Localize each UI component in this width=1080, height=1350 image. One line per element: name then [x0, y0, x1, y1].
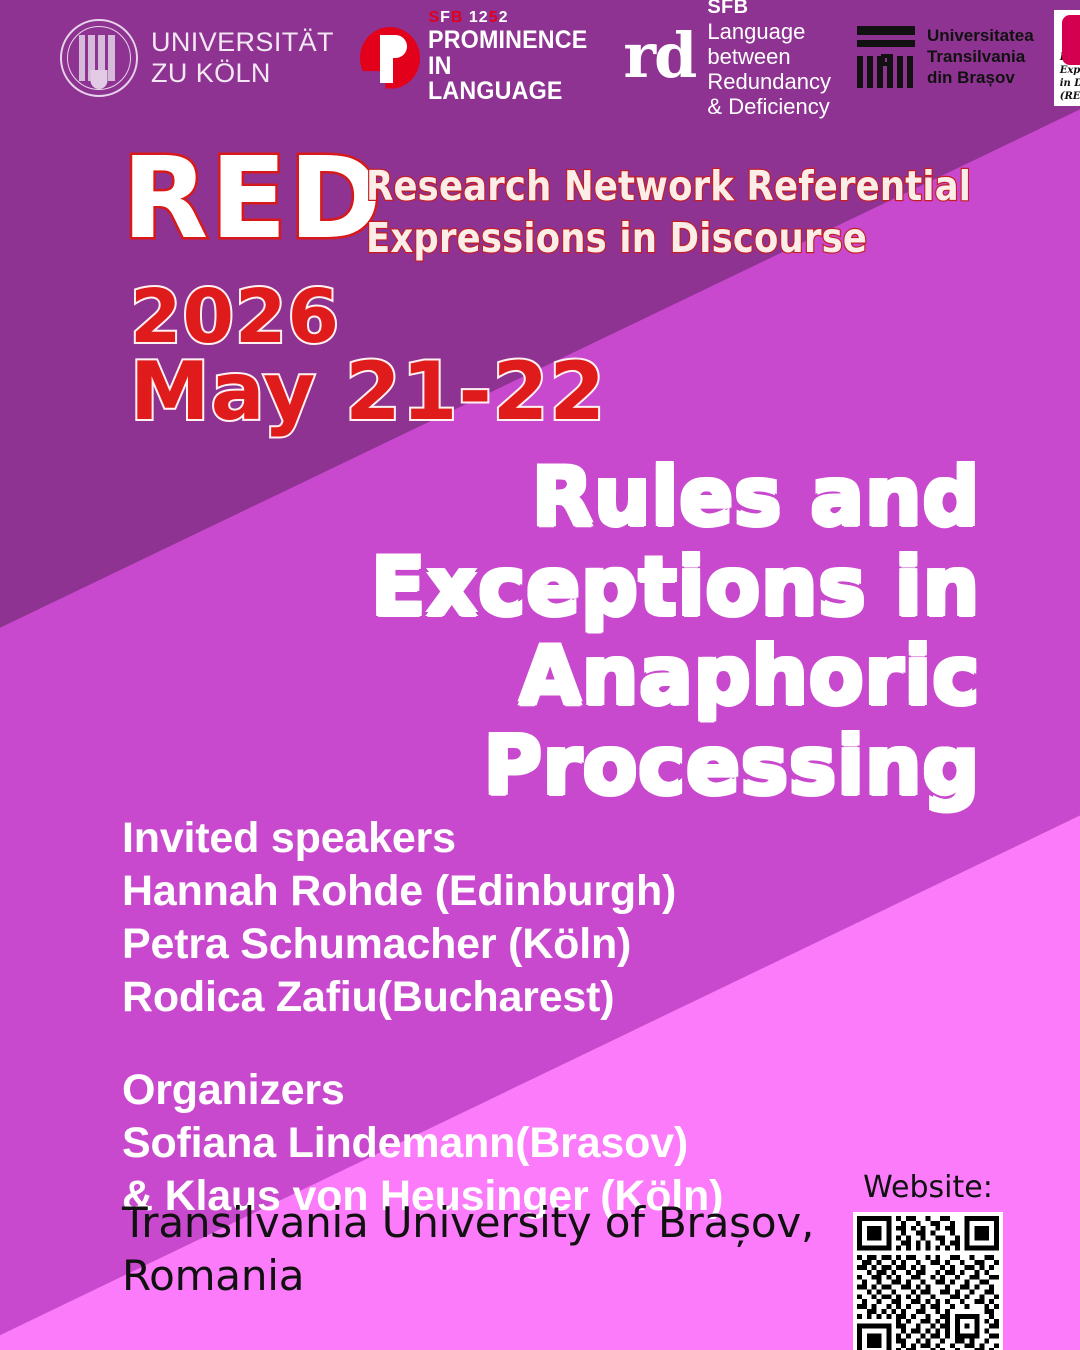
conference-poster: UNIVERSITÄT ZU KÖLN SFB 1252 PROMINENCE … [0, 0, 1080, 1350]
venue-text: Transilvania University of Brașov, Roman… [122, 1196, 822, 1302]
organizers-heading: Organizers [122, 1064, 842, 1117]
info-block: Invited speakers Hannah Rohde (Edinburgh… [122, 812, 842, 1223]
speaker-item: Rodica Zafiu(Bucharest) [122, 971, 842, 1024]
prominence-line-1: PROMINENCE [428, 28, 589, 54]
red-logo-line-2: in Discourse (RED) [1060, 77, 1080, 103]
koeln-wordmark: UNIVERSITÄT ZU KÖLN [151, 27, 334, 87]
logo-strip: UNIVERSITÄT ZU KÖLN SFB 1252 PROMINENCE … [0, 0, 1080, 115]
organizer-item: Sofiana Lindemann(Brasov) [122, 1117, 842, 1170]
section-spacer [122, 1024, 842, 1064]
rd-monogram-icon: rd [623, 27, 695, 89]
koeln-seal-icon [60, 19, 138, 97]
prominence-p-icon [360, 27, 421, 89]
network-title: Research Network Referential Expressions… [366, 160, 971, 265]
event-year: 2026 [130, 280, 340, 354]
transilvania-line-2: Transilvania [927, 47, 1034, 68]
logo-universitaet-zu-koeln: UNIVERSITÄT ZU KÖLN [60, 19, 334, 97]
website-label: Website: [863, 1172, 993, 1204]
invited-speakers-heading: Invited speakers [122, 812, 842, 865]
rd-line-1: Language between [707, 19, 835, 69]
transilvania-line-1: Universitatea [927, 26, 1034, 47]
speaker-item: Petra Schumacher (Köln) [122, 918, 842, 971]
qr-code[interactable] [853, 1212, 1003, 1350]
speech-bubbles-icon [1060, 15, 1080, 46]
event-dates: May 21-22 [130, 352, 606, 432]
koeln-line-1: UNIVERSITÄT [151, 27, 334, 57]
logo-sfb-rd: rd SFB Language between Redundancy & Def… [623, 0, 835, 119]
koeln-line-2: ZU KÖLN [151, 58, 334, 88]
website-block: Website: [838, 1172, 1018, 1350]
prominence-line-2: IN LANGUAGE [428, 54, 589, 105]
rd-line-2: Redundancy & Deficiency [707, 69, 835, 119]
prominence-sfb-number: SFB 1252 [428, 10, 601, 26]
transilvania-building-icon [857, 26, 915, 88]
theme-title: Rules and Exceptions in Anaphoric Proces… [360, 452, 980, 810]
red-acronym: RED [122, 148, 384, 251]
rd-sfb-label: SFB [707, 0, 835, 19]
logo-prominence-in-language: SFB 1252 PROMINENCE IN LANGUAGE [360, 10, 601, 105]
transilvania-line-3: din Brașov [927, 68, 1034, 89]
speaker-item: Hannah Rohde (Edinburgh) [122, 865, 842, 918]
logo-red-network: Referential Expressions in Discourse (RE… [1054, 10, 1080, 106]
logo-universitatea-transilvania: Universitatea Transilvania din Brașov [857, 26, 1034, 88]
